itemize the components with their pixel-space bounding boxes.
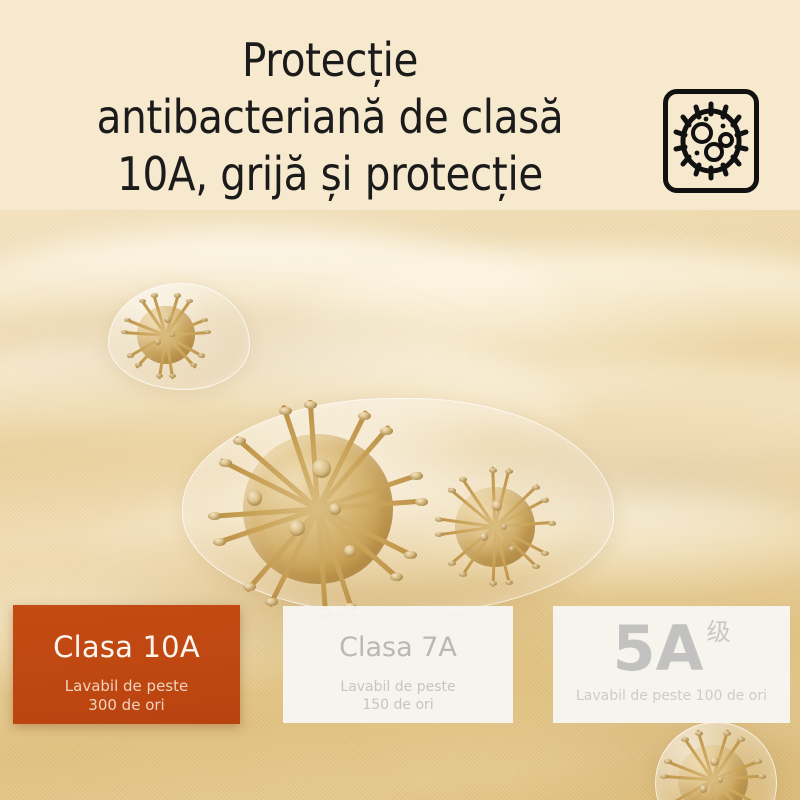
class-card-title: Clasa 10A [53,630,200,664]
page-title: Protecție antibacteriană de clasă 10A, g… [40,32,621,203]
bubble-small [108,283,250,390]
virus-medium-icon [455,487,535,567]
class-card-subtitle: Lavabil de peste 100 de ori [576,688,767,704]
bacteria-icon [663,89,759,193]
class-card-title-superscript: 级 [707,620,731,644]
class-card-10a[interactable]: Clasa 10A Lavabil de peste 300 de ori [13,605,240,724]
class-card-subtitle: Lavabil de peste 150 de ori [340,678,455,714]
product-feature-poster: Protecție antibacteriană de clasă 10A, g… [0,0,800,800]
class-card-subtitle: Lavabil de peste 300 de ori [65,677,188,715]
class-card-title: 5A 级 [612,612,730,686]
class-card-title: Clasa 7A [339,632,457,663]
class-card-7a[interactable]: Clasa 7A Lavabil de peste 150 de ori [283,606,513,723]
virus-corner-icon [678,745,748,800]
class-card-title-text: 5A [612,612,703,686]
virus-small-icon [137,306,195,364]
class-card-5a[interactable]: 5A 级 Lavabil de peste 100 de ori [553,606,790,723]
bubble-large [182,398,614,615]
virus-large-icon [243,434,393,584]
